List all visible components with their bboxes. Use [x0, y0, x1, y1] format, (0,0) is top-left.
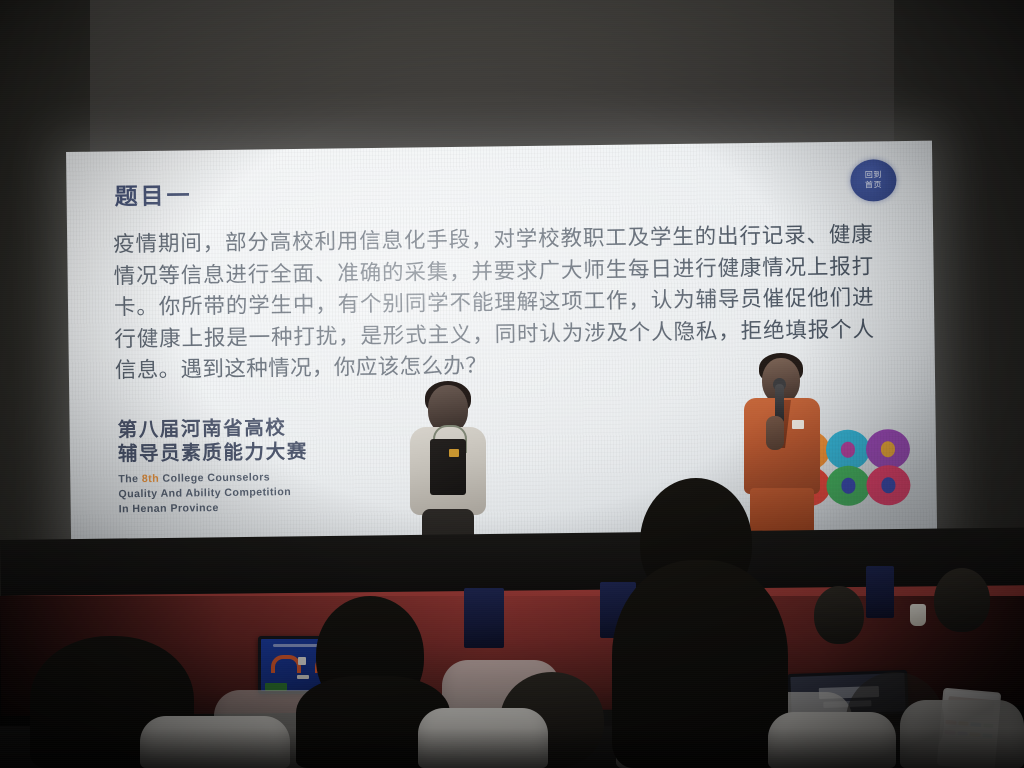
audience-head-mid-1: [814, 586, 864, 644]
logo-ring-5: [826, 466, 871, 507]
presenter-left-badge: [449, 449, 459, 457]
home-button-line2: 首页: [865, 180, 882, 190]
brand-en-post: College Counselors: [159, 471, 270, 484]
logo-ring-6: [866, 465, 911, 506]
back-to-home-button[interactable]: 回到 首页: [850, 159, 897, 202]
brand-en-line2: Quality And Ability Competition: [118, 485, 308, 503]
logo-ring-2: [826, 430, 871, 471]
brand-en-pre: The: [118, 473, 142, 485]
brand-cn-line1: 第八届河南省高校: [117, 416, 307, 443]
brand-en-highlight: 8th: [142, 473, 159, 485]
home-button-line1: 回到: [865, 170, 882, 180]
competition-branding: 第八届河南省高校 辅导员素质能力大赛 The 8th College Couns…: [117, 416, 308, 518]
audience-head-mid-2: [934, 568, 990, 632]
presenter-right-name-tag: [792, 420, 804, 429]
brand-en-block: The 8th College Counselors Quality And A…: [118, 470, 308, 518]
brand-cn-line2: 辅导员素质能力大赛: [118, 440, 308, 467]
brand-en-line3: In Henan Province: [119, 500, 309, 518]
table-sign-1: [464, 588, 504, 648]
table-sign-3: [866, 566, 894, 618]
page-title: 题目一: [114, 176, 192, 211]
auditorium-scene: 题目一 疫情期间，部分高校利用信息化手段，对学校教职工及学生的出行记录、健康情况…: [0, 0, 1024, 768]
logo-ring-3: [866, 429, 911, 470]
paper-cup-1: [910, 604, 926, 626]
presenter-right-arm: [766, 416, 784, 450]
presenter-left-folder: [430, 439, 466, 495]
bottom-gradient: [0, 728, 1024, 768]
